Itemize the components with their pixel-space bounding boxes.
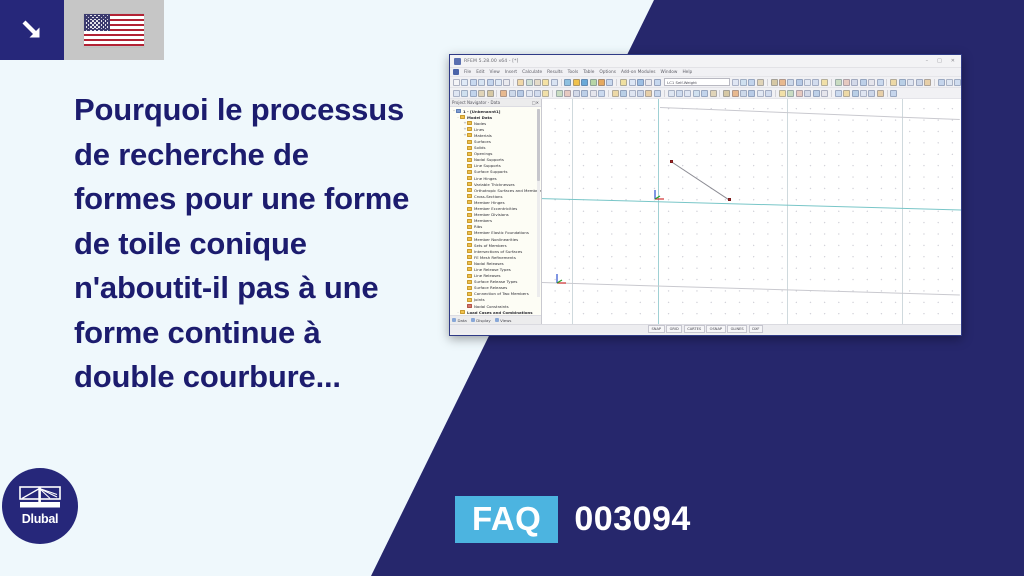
dlubal-wordmark: Dlubal <box>22 512 58 526</box>
toolbar-separator <box>831 79 832 86</box>
toolbar2-button-33[interactable] <box>748 90 755 97</box>
flag-star <box>101 24 103 26</box>
flag-star <box>103 26 105 28</box>
folder-icon <box>467 237 472 241</box>
tree-item-label: Intersections of Surfaces <box>474 249 522 254</box>
toolbar-separator <box>886 79 887 86</box>
tree-item-label: Connection of Two Members <box>474 291 529 296</box>
toolbar-button-right-3[interactable] <box>748 79 755 86</box>
menu-item-table[interactable]: Table <box>583 70 594 75</box>
flag-star <box>98 15 100 17</box>
toolbar-separator <box>664 90 665 97</box>
toolbar-button-right-4[interactable] <box>757 79 764 86</box>
toolbar-button-right-17[interactable] <box>877 79 884 86</box>
flag-star <box>103 19 105 21</box>
toolbar2-button-31[interactable] <box>732 90 739 97</box>
flag-star <box>103 15 105 17</box>
status-toggle-glines[interactable]: GLINES <box>727 325 747 333</box>
folder-icon <box>467 146 472 150</box>
folder-icon <box>467 164 472 168</box>
toolbar2-button-21[interactable] <box>637 90 644 97</box>
toolbar2-button-22[interactable] <box>645 90 652 97</box>
node-marker[interactable] <box>728 198 731 201</box>
toolbar-button-right-14[interactable] <box>851 79 858 86</box>
window-titlebar[interactable]: RFEM 5.28.00 x64 - [*] – □ ✕ <box>450 55 961 68</box>
folder-icon <box>467 194 472 198</box>
folder-icon <box>467 133 472 137</box>
toolbar-button-16[interactable] <box>590 79 597 86</box>
toolbar-button-right-1[interactable] <box>732 79 739 86</box>
navigator-close-icon[interactable]: □✕ <box>532 100 539 105</box>
navigator-title: Project Navigator - Data <box>452 100 500 105</box>
tree-item-label: Model Data <box>467 115 492 120</box>
tree-item-label: Nodal Constraints <box>474 304 509 309</box>
flag-star <box>107 30 109 32</box>
rfem-application-window[interactable]: RFEM 5.28.00 x64 - [*] – □ ✕ FileEditVie… <box>449 54 962 336</box>
tree-item-label: FE Mesh Refinements <box>474 255 516 260</box>
toolbar-separator <box>719 90 720 97</box>
toolbar-button-right-18[interactable] <box>890 79 897 86</box>
menu-item-tools[interactable]: Tools <box>568 70 579 75</box>
tree-item-label: Variable Thicknesses <box>474 182 515 187</box>
tree-item-label: Member Hinges <box>474 200 505 205</box>
load-case-select[interactable]: LC1 Self-Weight <box>664 78 730 86</box>
toolbar-button-14[interactable] <box>573 79 580 86</box>
menu-item-file[interactable]: File <box>464 70 471 75</box>
flag-star <box>101 28 103 30</box>
tree-item-label: Nodal Supports <box>474 157 504 162</box>
navigator-tab-display[interactable]: Display <box>471 318 491 323</box>
toolbar-primary[interactable]: LC1 Self-Weight <box>450 77 961 88</box>
toolbar-button-right-15[interactable] <box>860 79 867 86</box>
toolbar-secondary[interactable] <box>450 88 961 99</box>
grid-vertical-line <box>902 99 903 324</box>
toolbar2-button-32[interactable] <box>740 90 747 97</box>
status-toggle-osnap[interactable]: OSNAP <box>706 325 725 333</box>
folder-icon <box>467 298 472 302</box>
flag-star <box>105 17 107 19</box>
flag-star <box>107 26 109 28</box>
toolbar-button-15[interactable] <box>581 79 588 86</box>
us-flag-icon[interactable] <box>64 0 164 60</box>
folder-icon <box>467 219 472 223</box>
grid-vertical-line <box>572 99 573 324</box>
toolbar-separator <box>561 79 562 86</box>
toolbar-button-6[interactable] <box>495 79 502 86</box>
toolbar-button-4[interactable] <box>478 79 485 86</box>
flag-canton <box>84 14 110 32</box>
toolbar-separator <box>831 90 832 97</box>
axis-vertical <box>658 99 659 324</box>
toolbar2-button-2[interactable] <box>461 90 468 97</box>
toolbar-button-10[interactable] <box>534 79 541 86</box>
toolbar2-button-29[interactable] <box>710 90 717 97</box>
toolbar2-button-26[interactable] <box>684 90 691 97</box>
root-icon <box>456 109 461 113</box>
page-title: Pourquoi le processus de recherche de fo… <box>74 88 414 400</box>
toolbar2-button-3[interactable] <box>470 90 477 97</box>
folder-icon <box>467 207 472 211</box>
toolbar2-button-24[interactable] <box>668 90 675 97</box>
flag-star <box>98 19 100 21</box>
navigator-tree[interactable]: - 1 - [Unbenannt1] -Model Data+Nodes+Lin… <box>450 107 541 315</box>
toolbar-button-1[interactable] <box>453 79 460 86</box>
flag-star <box>86 30 88 32</box>
toolbar2-button-20[interactable] <box>629 90 636 97</box>
menu-item-options[interactable]: Options <box>599 70 616 75</box>
folder-icon <box>467 261 472 265</box>
tree-item-label: Ribs <box>474 224 482 229</box>
toolbar-button-2[interactable] <box>461 79 468 86</box>
toolbar-separator <box>934 79 935 86</box>
navigator-tabs[interactable]: DataDisplayViews <box>450 315 541 324</box>
toolbar-button-8[interactable] <box>517 79 524 86</box>
toolbar2-button-13[interactable] <box>564 90 571 97</box>
flag-star <box>105 28 107 30</box>
folder-icon <box>460 310 465 314</box>
folder-icon <box>467 304 472 308</box>
tree-item-list[interactable]: -Model Data+Nodes+Lines+MaterialsSurface… <box>450 114 541 315</box>
flag-stripe <box>84 44 144 47</box>
toolbar2-button-25[interactable] <box>676 90 683 97</box>
toolbar2-button-1[interactable] <box>453 90 460 97</box>
tree-item-label: Joints <box>474 297 485 302</box>
tree-item-label: Materials <box>474 133 492 138</box>
toolbar2-button-35[interactable] <box>765 90 772 97</box>
navigator-tab-data[interactable]: Data <box>452 318 467 323</box>
folder-icon <box>467 225 472 229</box>
toolbar-separator <box>608 90 609 97</box>
toolbar-button-3[interactable] <box>470 79 477 86</box>
toolbar2-button-46[interactable] <box>868 90 875 97</box>
window-title: RFEM 5.28.00 x64 - [*] <box>464 59 926 64</box>
flag-star <box>98 26 100 28</box>
toolbar-button-right-24[interactable] <box>946 79 953 86</box>
tab-icon <box>471 318 475 322</box>
tree-item-label: Orthotropic Surfaces and Membranes <box>474 188 541 193</box>
folder-icon <box>467 213 472 217</box>
status-toggle-dxf[interactable]: DXF <box>749 325 763 333</box>
status-toggle-grid[interactable]: GRID <box>666 325 682 333</box>
navigator-header: Project Navigator - Data □✕ <box>450 99 541 107</box>
window-controls[interactable]: – □ ✕ <box>926 59 961 64</box>
folder-icon <box>467 176 472 180</box>
menu-item-insert[interactable]: Insert <box>505 70 517 75</box>
toolbar-button-right-25[interactable] <box>954 79 961 86</box>
tree-item-label: Line Releases <box>474 273 501 278</box>
close-icon[interactable]: ✕ <box>951 59 955 64</box>
work-grid <box>542 99 961 324</box>
tree-item-label: Cross-Sections <box>474 194 503 199</box>
folder-icon <box>467 152 472 156</box>
toolbar2-button-9[interactable] <box>526 90 533 97</box>
faq-footer: FAQ 003094 <box>455 496 691 543</box>
flag-star <box>94 30 96 32</box>
toolbar-button-13[interactable] <box>564 79 571 86</box>
tree-item-label: Nodal Releases <box>474 261 504 266</box>
dlubal-logo[interactable]: Dlubal <box>2 468 78 544</box>
toolbar2-button-27[interactable] <box>693 90 700 97</box>
faq-number: 003094 <box>574 500 690 539</box>
toolbar-separator <box>775 90 776 97</box>
toolbar2-button-43[interactable] <box>843 90 850 97</box>
folder-icon <box>467 158 472 162</box>
flag-star <box>98 22 100 24</box>
node-marker[interactable] <box>670 160 673 163</box>
toolbar2-button-7[interactable] <box>509 90 516 97</box>
toolbar-separator <box>552 90 553 97</box>
toolbar-button-right-9[interactable] <box>804 79 811 86</box>
status-toggle-cartes[interactable]: CARTES <box>684 325 705 333</box>
toolbar-button-12[interactable] <box>551 79 558 86</box>
tree-item[interactable]: -Load Cases and Combinations <box>450 309 541 315</box>
tree-item-label: Surface Release Types <box>474 279 517 284</box>
toolbar-button-right-23[interactable] <box>938 79 945 86</box>
toolbar2-button-16[interactable] <box>590 90 597 97</box>
flag-star <box>101 20 103 22</box>
folder-icon <box>467 188 472 192</box>
window-body: Project Navigator - Data □✕ - 1 - [Unben… <box>450 99 961 324</box>
model-viewport[interactable] <box>542 99 961 324</box>
toolbar2-button-12[interactable] <box>556 90 563 97</box>
toolbar2-button-42[interactable] <box>835 90 842 97</box>
tab-icon <box>452 318 456 322</box>
toolbar-button-21[interactable] <box>637 79 644 86</box>
arrow-down-right-icon <box>0 0 64 60</box>
toolbar2-button-44[interactable] <box>852 90 859 97</box>
toolbar-button-7[interactable] <box>503 79 510 86</box>
folder-icon <box>467 127 472 131</box>
folder-icon <box>467 170 472 174</box>
toolbar-button-right-20[interactable] <box>907 79 914 86</box>
navigator-tab-views[interactable]: Views <box>495 318 512 323</box>
toolbar2-button-40[interactable] <box>813 90 820 97</box>
flag-graphic <box>84 14 144 47</box>
flag-star <box>90 30 92 32</box>
menu-item-edit[interactable]: Edit <box>476 70 484 75</box>
tree-item-label: Members <box>474 218 492 223</box>
toolbar2-button-19[interactable] <box>620 90 627 97</box>
folder-icon <box>460 115 465 119</box>
tab-icon <box>495 318 499 322</box>
toolbar-button-17[interactable] <box>598 79 605 86</box>
toolbar-separator <box>513 79 514 86</box>
tree-item-label: Member Divisions <box>474 212 509 217</box>
toolbar-separator <box>496 90 497 97</box>
toolbar2-button-48[interactable] <box>890 90 897 97</box>
status-toggle-snap[interactable]: SNAP <box>648 325 665 333</box>
flag-star <box>107 19 109 21</box>
folder-icon <box>467 274 472 278</box>
flag-star <box>107 22 109 24</box>
menu-item-results[interactable]: Results <box>547 70 563 75</box>
menu-app-icon <box>453 69 459 75</box>
menu-item-window[interactable]: Window <box>661 70 678 75</box>
toolbar-button-right-8[interactable] <box>796 79 803 86</box>
toolbar2-button-11[interactable] <box>542 90 549 97</box>
folder-icon <box>467 292 472 296</box>
toolbar-button-right-13[interactable] <box>843 79 850 86</box>
tree-item-label: Surface Releases <box>474 285 507 290</box>
toolbar-button-right-12[interactable] <box>835 79 842 86</box>
toolbar-button-right-11[interactable] <box>821 79 828 86</box>
toolbar2-button-18[interactable] <box>612 90 619 97</box>
toolbar2-button-41[interactable] <box>821 90 828 97</box>
toolbar-button-right-19[interactable] <box>899 79 906 86</box>
folder-icon <box>467 121 472 125</box>
toolbar-button-18[interactable] <box>606 79 613 86</box>
minimize-icon[interactable]: – <box>926 59 929 64</box>
toolbar2-button-15[interactable] <box>581 90 588 97</box>
toolbar-separator <box>887 90 888 97</box>
toolbar-button-right-16[interactable] <box>868 79 875 86</box>
toolbar2-button-17[interactable] <box>598 90 605 97</box>
bridge-truss-icon <box>19 486 61 511</box>
flag-star <box>107 15 109 17</box>
tree-item-label: Solids <box>474 145 486 150</box>
toolbar2-button-37[interactable] <box>787 90 794 97</box>
tree-item-label: Member Elastic Foundations <box>474 230 529 235</box>
app-icon <box>454 58 461 65</box>
project-navigator[interactable]: Project Navigator - Data □✕ - 1 - [Unben… <box>450 99 542 324</box>
menu-item-calculate[interactable]: Calculate <box>522 70 542 75</box>
tree-item-label: Line Supports <box>474 163 501 168</box>
menu-item-add-on-modules[interactable]: Add-on Modules <box>621 70 656 75</box>
toolbar2-button-39[interactable] <box>804 90 811 97</box>
toolbar2-button-6[interactable] <box>500 90 507 97</box>
menu-item-view[interactable]: View <box>490 70 500 75</box>
folder-icon <box>467 182 472 186</box>
tree-item-label: Nodes <box>474 121 486 126</box>
toolbar2-button-47[interactable] <box>877 90 884 97</box>
menu-item-help[interactable]: Help <box>682 70 692 75</box>
folder-icon <box>467 140 472 144</box>
toolbar-button-11[interactable] <box>542 79 549 86</box>
folder-icon <box>467 280 472 284</box>
navigator-scrollbar-thumb[interactable] <box>537 109 540 181</box>
toolbar-button-right-2[interactable] <box>740 79 747 86</box>
toolbar-button-right-6[interactable] <box>779 79 786 86</box>
folder-icon <box>467 243 472 247</box>
toolbar-button-19[interactable] <box>620 79 627 86</box>
toolbar-button-right-21[interactable] <box>916 79 923 86</box>
toolbar-button-right-5[interactable] <box>771 79 778 86</box>
toolbar2-button-45[interactable] <box>860 90 867 97</box>
toolbar-button-22[interactable] <box>645 79 652 86</box>
folder-icon <box>467 200 472 204</box>
toolbar2-button-4[interactable] <box>478 90 485 97</box>
tree-item-label: Sets of Members <box>474 243 507 248</box>
flag-star <box>101 17 103 19</box>
navigator-tab-label: Display <box>476 318 490 323</box>
toolbar2-button-38[interactable] <box>796 90 803 97</box>
toolbar-separator <box>767 79 768 86</box>
faq-badge: FAQ <box>455 496 558 543</box>
tree-item-label: Surfaces <box>474 139 491 144</box>
toolbar2-button-5[interactable] <box>487 90 494 97</box>
flag-star <box>103 22 105 24</box>
tree-item-label: Line Release Types <box>474 267 511 272</box>
toolbar2-button-34[interactable] <box>757 90 764 97</box>
tree-item-label: Line Hinges <box>474 176 497 181</box>
tree-item-label: Member Nonlinearities <box>474 237 518 242</box>
folder-icon <box>467 231 472 235</box>
navigator-tab-label: Data <box>458 318 467 323</box>
toolbar-button-right-22[interactable] <box>924 79 931 86</box>
tree-item-label: Openings <box>474 151 492 156</box>
coordinate-axes-widget-origin <box>554 271 568 285</box>
toolbar2-button-23[interactable] <box>654 90 661 97</box>
toolbar2-button-28[interactable] <box>701 90 708 97</box>
folder-icon <box>467 255 472 259</box>
toolbar-button-9[interactable] <box>526 79 533 86</box>
toolbar-button-20[interactable] <box>629 79 636 86</box>
tree-root-label: 1 - [Unbenannt1] <box>463 109 500 114</box>
coordinate-axes-widget <box>652 187 666 201</box>
toolbar-separator <box>616 79 617 86</box>
status-bar[interactable]: SNAPGRIDCARTESOSNAPGLINESDXF <box>450 324 961 333</box>
tree-item-label: Load Cases and Combinations <box>467 310 533 315</box>
tree-item-label: Lines <box>474 127 484 132</box>
toolbar2-button-30[interactable] <box>723 90 730 97</box>
toolbar2-button-14[interactable] <box>573 90 580 97</box>
language-bar <box>0 0 164 60</box>
toolbar-button-5[interactable] <box>487 79 494 86</box>
folder-icon <box>467 267 472 271</box>
toolbar-button-right-10[interactable] <box>812 79 819 86</box>
flag-star <box>103 30 105 32</box>
toolbar2-button-36[interactable] <box>779 90 786 97</box>
toolbar2-button-10[interactable] <box>534 90 541 97</box>
tree-item-label: Surface Supports <box>474 169 507 174</box>
menu-bar[interactable]: FileEditViewInsertCalculateResultsToolsT… <box>450 68 961 77</box>
flag-star <box>98 30 100 32</box>
folder-icon <box>467 286 472 290</box>
maximize-icon[interactable]: □ <box>937 59 942 64</box>
tree-item-label: Member Eccentricities <box>474 206 517 211</box>
toolbar-button-23[interactable] <box>654 79 661 86</box>
folder-icon <box>467 249 472 253</box>
navigator-tab-label: Views <box>500 318 511 323</box>
toolbar-button-right-7[interactable] <box>787 79 794 86</box>
toolbar2-button-8[interactable] <box>517 90 524 97</box>
